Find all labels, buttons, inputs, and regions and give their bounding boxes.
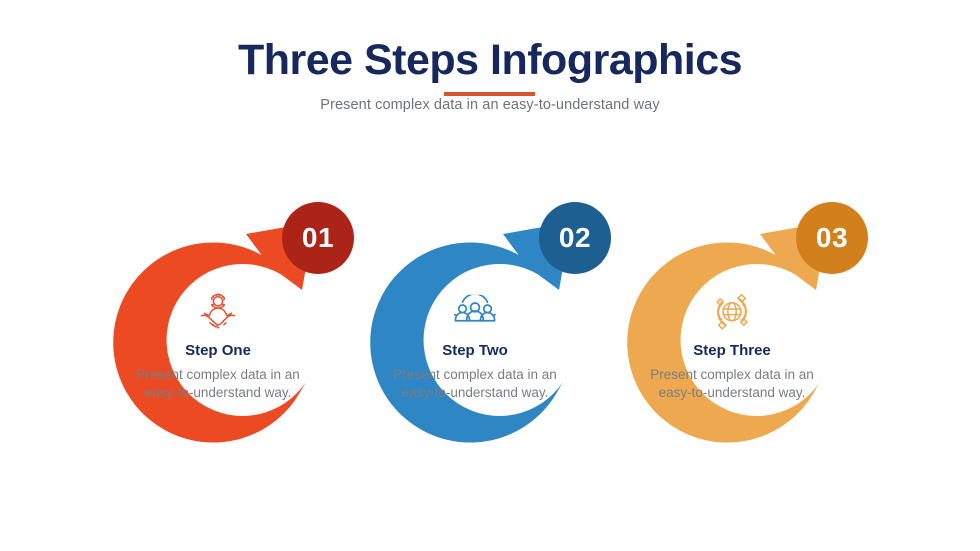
step-1-number: 01 <box>302 222 334 254</box>
step-1-title: Step One <box>127 342 309 359</box>
step-1-description: Present complex data in an easy-to-under… <box>127 366 309 402</box>
step-3-description: Present complex data in an easy-to-under… <box>641 366 823 402</box>
steps-container: Step One Present complex data in an easy… <box>0 0 980 551</box>
people-group-icon <box>384 288 566 336</box>
step-3-number: 03 <box>816 222 848 254</box>
infographic-slide: Three Steps Infographics Present complex… <box>0 0 980 551</box>
step-3-number-badge[interactable]: 03 <box>796 202 868 274</box>
step-1-number-badge[interactable]: 01 <box>282 202 354 274</box>
handshake-gear-icon <box>127 288 309 336</box>
step-2-description: Present complex data in an easy-to-under… <box>384 366 566 402</box>
step-2-number-badge[interactable]: 02 <box>539 202 611 274</box>
globe-network-icon <box>641 288 823 336</box>
step-2-content: Step Two Present complex data in an easy… <box>384 288 566 402</box>
step-2-number: 02 <box>559 222 591 254</box>
step-1-content: Step One Present complex data in an easy… <box>127 288 309 402</box>
step-2-title: Step Two <box>384 342 566 359</box>
step-3-title: Step Three <box>641 342 823 359</box>
step-3-content: Step Three Present complex data in an ea… <box>641 288 823 402</box>
